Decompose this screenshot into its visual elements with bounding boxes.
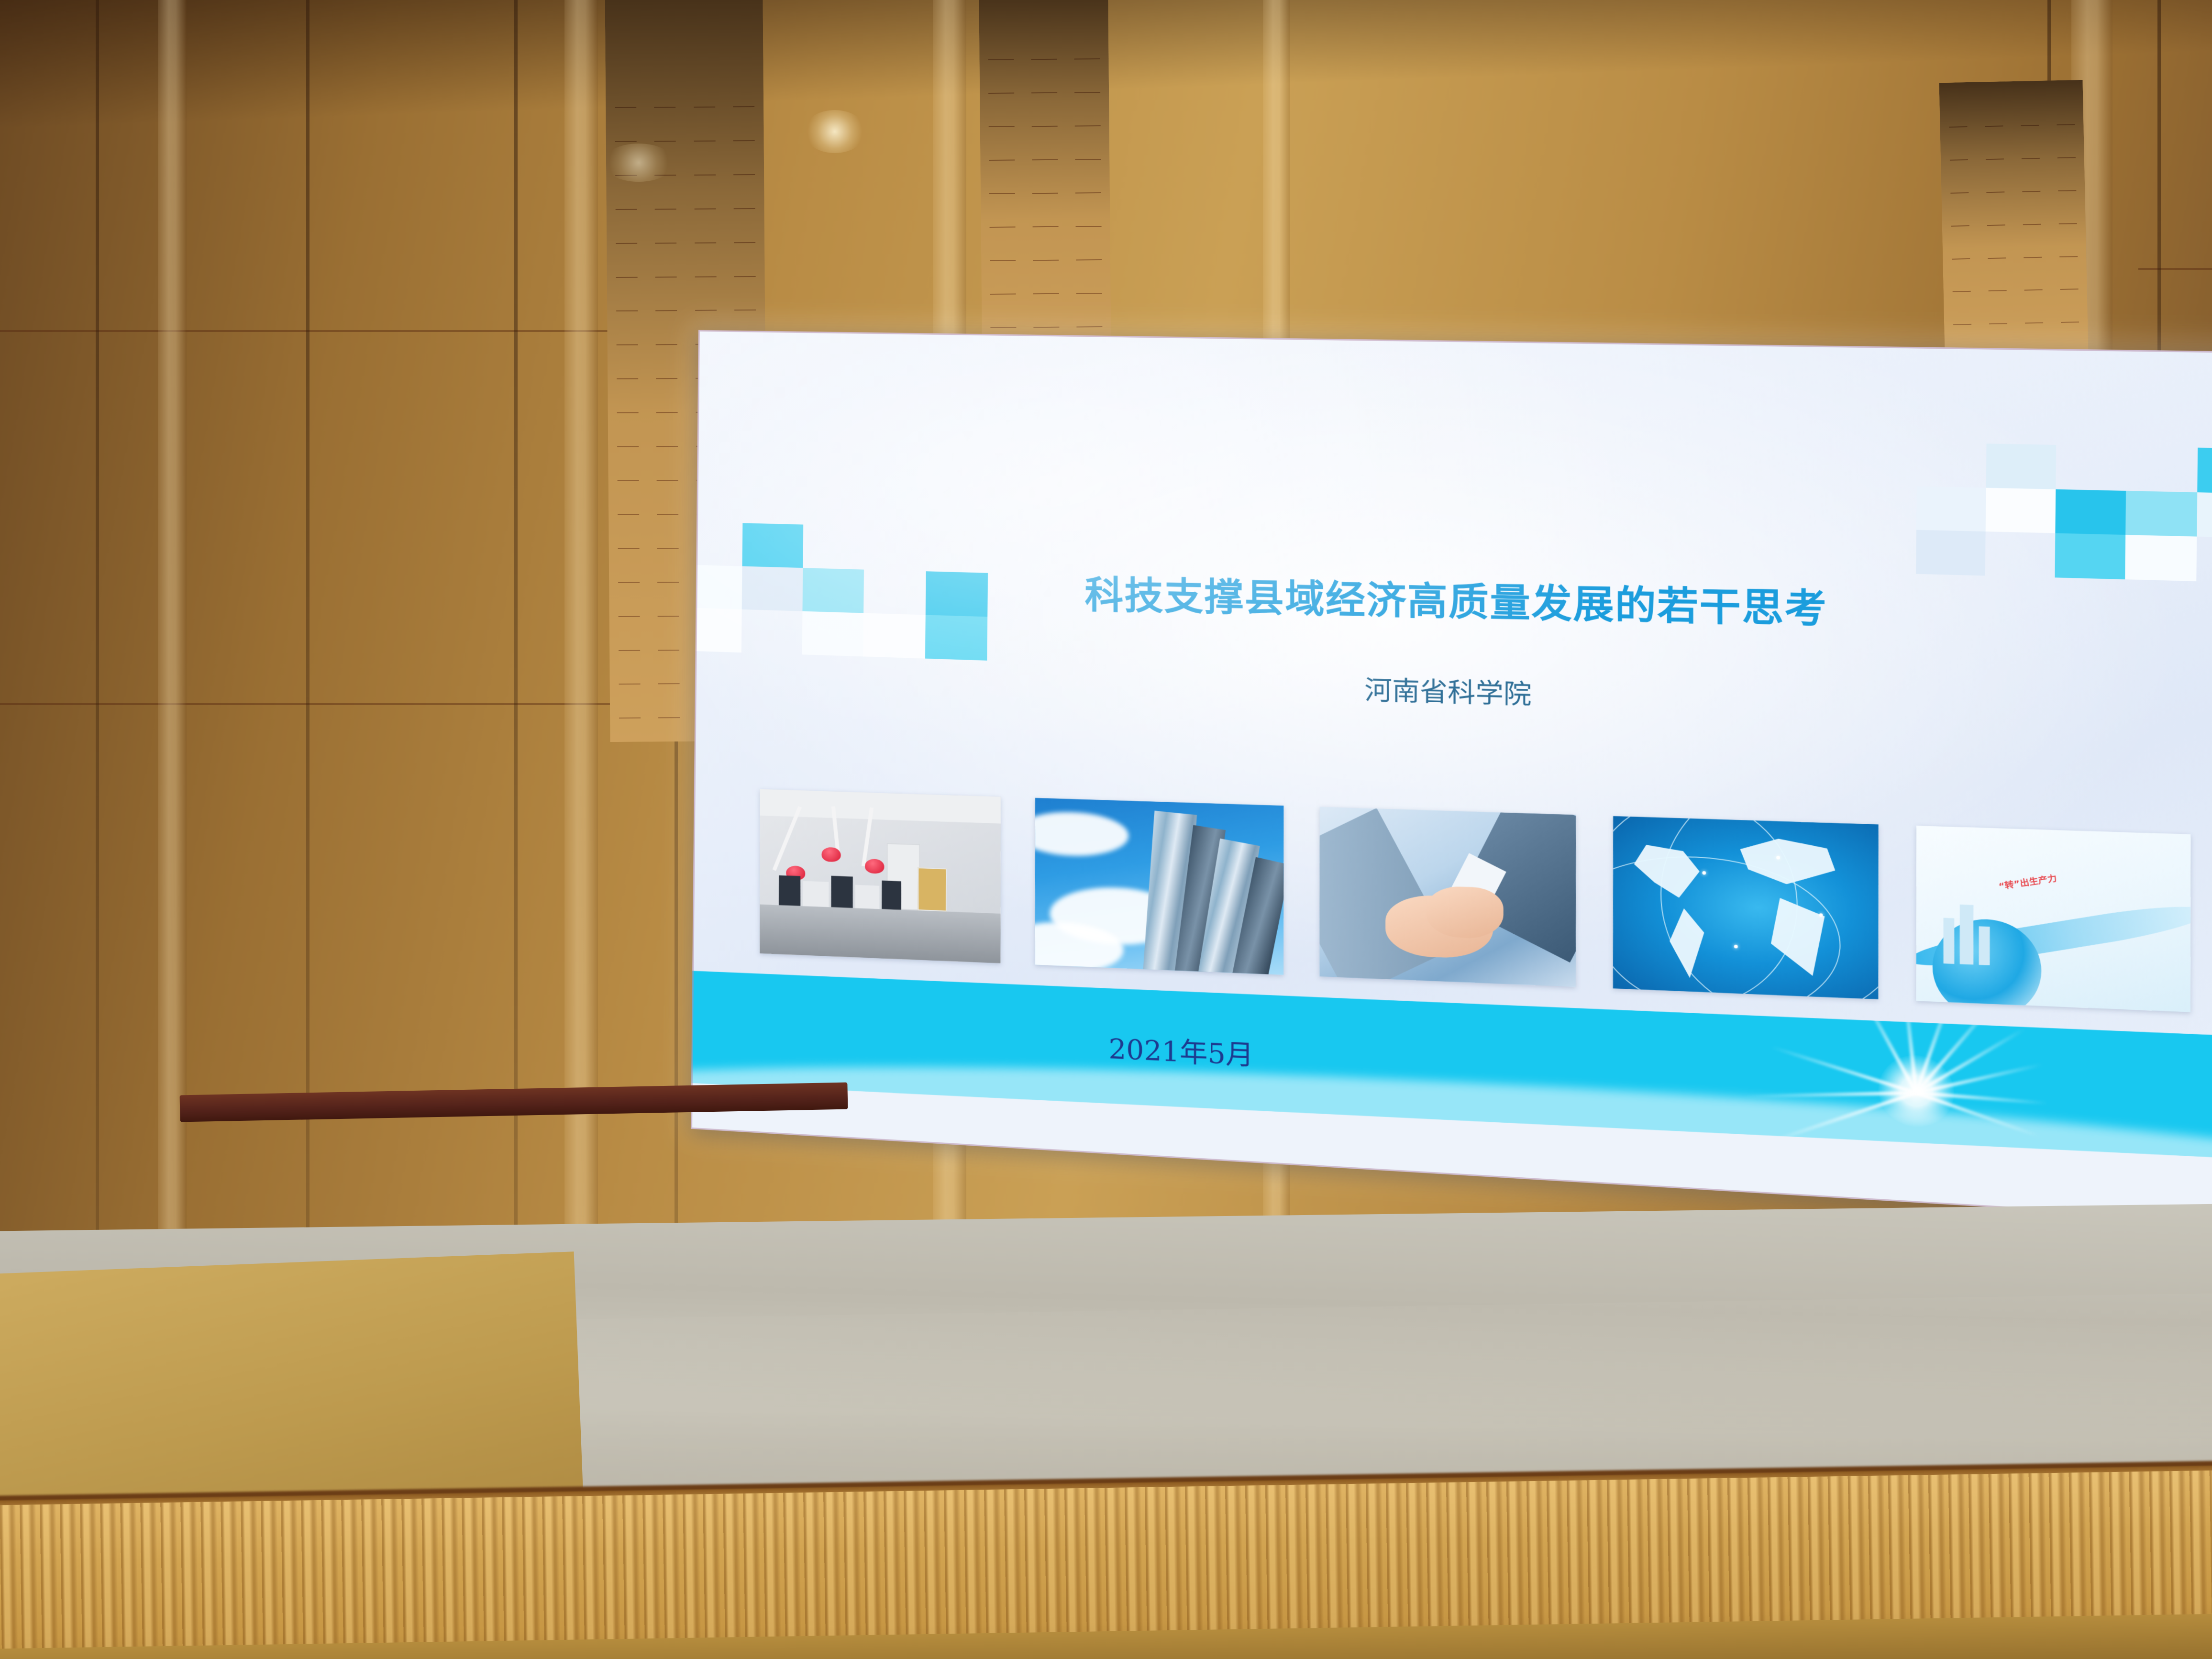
wall-brick — [1953, 291, 1970, 292]
wall-brick-panel-right — [1939, 80, 2089, 379]
wall-brick — [2061, 322, 2079, 323]
wall-brick — [1988, 258, 2005, 258]
wall-brick — [1990, 324, 2007, 324]
projection-screen: 科技支撑县域经济高质量发展的若干思考 河南省科学院 — [691, 330, 2212, 1224]
wall-brick — [2060, 256, 2077, 257]
wall-brick — [2024, 290, 2042, 290]
wall-brick — [1985, 126, 2002, 126]
wall-brick — [1951, 226, 1969, 226]
wall-brick — [2058, 190, 2076, 191]
wall-brick — [1986, 159, 2003, 159]
wall-brick — [2022, 158, 2039, 159]
conference-hall-scene: 科技支撑县域经济高质量发展的若干思考 河南省科学院 — [0, 0, 2212, 1659]
wall-brick — [2024, 257, 2041, 257]
wall-brick — [2025, 323, 2043, 323]
wall-brick — [1987, 192, 2004, 192]
wall-brick — [1989, 291, 2006, 291]
wall-brick — [1951, 193, 1968, 193]
wall-brick — [2057, 157, 2075, 158]
wall-brick — [1952, 259, 1969, 259]
wall-brick — [1954, 324, 1971, 325]
head-table-skirt — [148, 1094, 847, 1384]
wall-brick — [1950, 160, 1967, 160]
wall-brick — [2059, 223, 2076, 224]
wall-brick — [1949, 127, 1967, 127]
wall-brick — [2023, 224, 2040, 224]
wall-brick — [2060, 289, 2078, 290]
wall-brick — [2057, 124, 2074, 125]
wall-brick — [2021, 125, 2038, 126]
wall-brick — [2023, 191, 2040, 192]
wall-brick — [1987, 225, 2004, 225]
